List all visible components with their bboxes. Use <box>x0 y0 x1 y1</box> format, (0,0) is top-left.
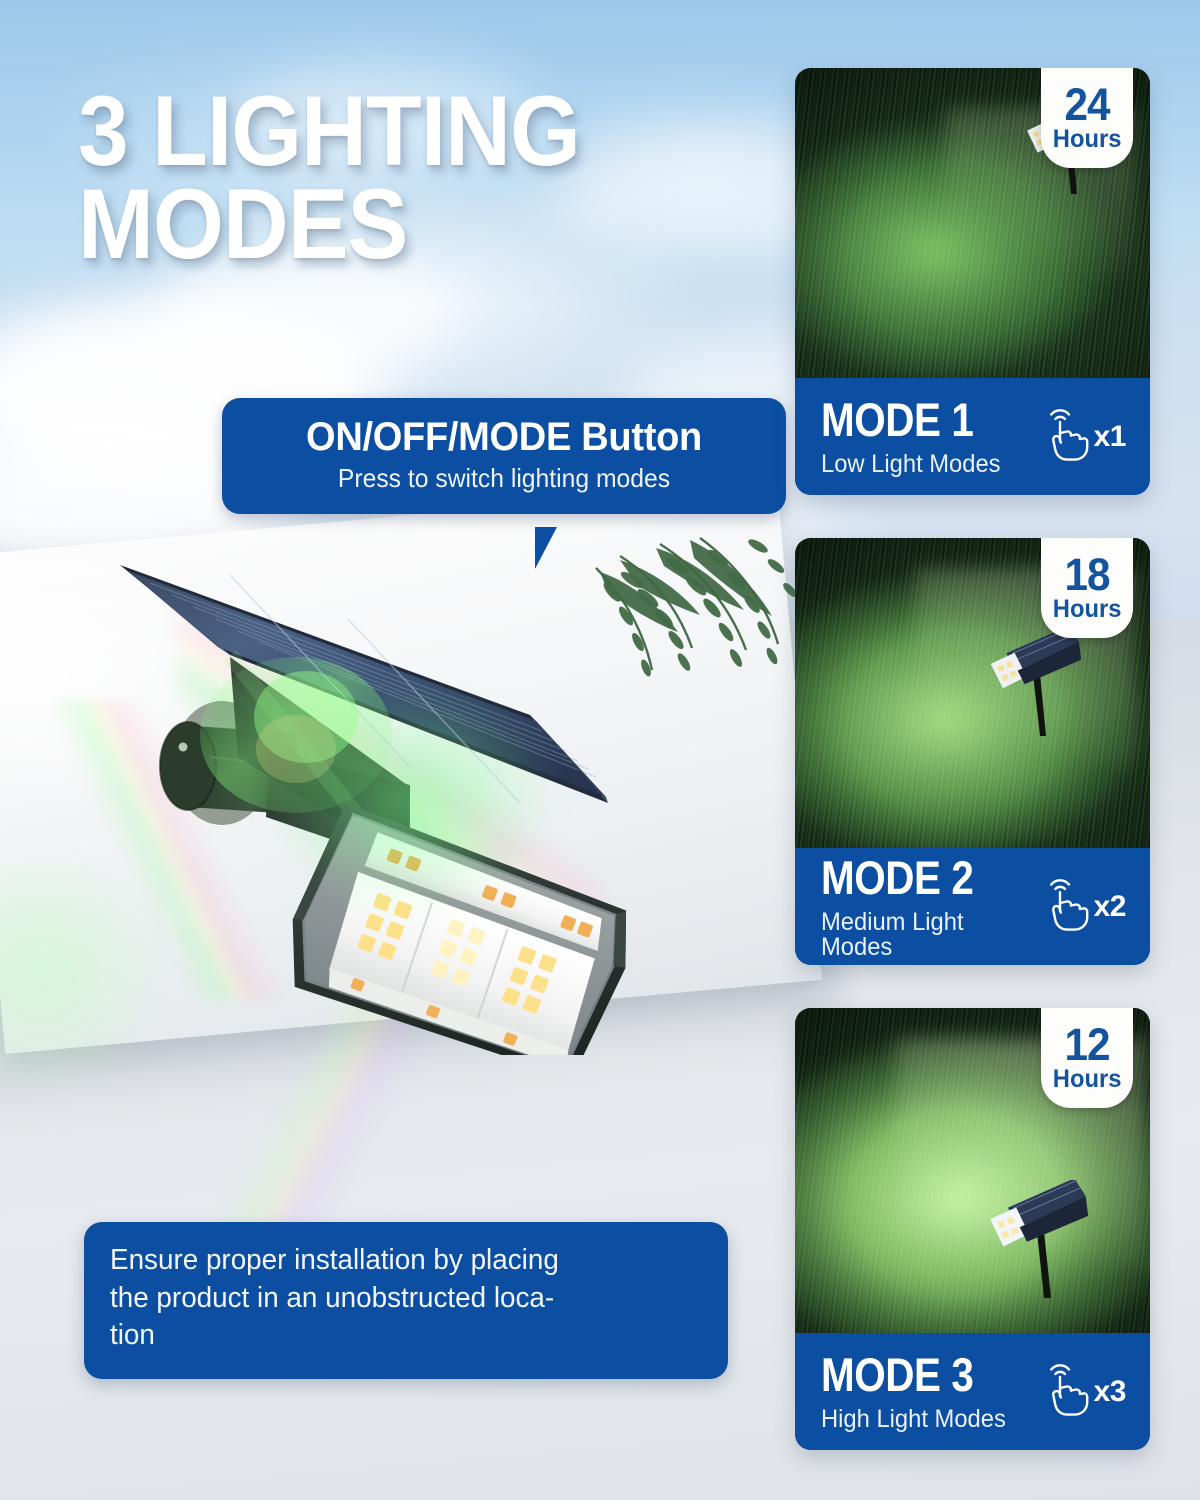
tap-hand-icon <box>1038 1361 1090 1422</box>
product-solar-wall-light <box>110 535 690 1055</box>
mode-2-subtitle: Medium Light Modes <box>821 910 1027 960</box>
mode-2-hours-badge: 18 Hours <box>1041 538 1133 638</box>
mini-solar-lamp <box>983 1180 1109 1307</box>
callout-heading: ON/OFF/MODE Button <box>255 416 753 458</box>
mode-1-label-bar: MODE 1 Low Light Modes x1 <box>795 378 1150 495</box>
mode-2-label-bar: MODE 2 Medium Light Modes x2 <box>795 848 1150 965</box>
mode-1-tap-group: x1 <box>1038 406 1126 467</box>
product-green-glow <box>260 685 560 915</box>
tap-hand-icon <box>1038 406 1090 467</box>
installation-note: Ensure proper installation by placing th… <box>84 1222 728 1379</box>
mode-1-photo: 24 Hours <box>795 68 1150 378</box>
mode-2-hours-number: 18 <box>1064 554 1109 595</box>
callout-tail <box>535 527 571 569</box>
page-title-line1: 3 LIGHTING <box>78 84 667 177</box>
mode-3-tap-group: x3 <box>1038 1361 1126 1422</box>
installation-note-line3: tion <box>110 1317 678 1355</box>
page-title: 3 LIGHTING MODES <box>78 84 667 270</box>
installation-note-line1: Ensure proper installation by placing <box>110 1242 678 1280</box>
mode-3-hours-unit: Hours <box>1053 1067 1122 1092</box>
mode-1-subtitle: Low Light Modes <box>821 452 1001 477</box>
mode-3-hours-number: 12 <box>1064 1024 1109 1065</box>
mini-solar-lamp <box>983 626 1101 746</box>
mode-1-hours-badge: 24 Hours <box>1041 68 1133 168</box>
mode-1-text: MODE 1 Low Light Modes <box>821 396 1010 477</box>
mode-3-photo: 12 Hours <box>795 1008 1150 1333</box>
mode-3-hours-badge: 12 Hours <box>1041 1008 1133 1108</box>
mode-2-hours-unit: Hours <box>1053 597 1122 622</box>
mode-1-hours-number: 24 <box>1064 84 1109 125</box>
mode-3-label-bar: MODE 3 High Light Modes x3 <box>795 1333 1150 1450</box>
page-title-line2: MODES <box>78 177 667 270</box>
mode-2-photo: 18 Hours <box>795 538 1150 848</box>
mode-card-1: 24 Hours MODE 1 Low Light Modes <box>795 68 1150 495</box>
mode-1-hours-unit: Hours <box>1053 127 1122 152</box>
mode-1-title: MODE 1 <box>821 396 984 443</box>
mode-2-title: MODE 2 <box>821 854 1007 901</box>
mode-2-tap-group: x2 <box>1038 876 1126 937</box>
mode-card-2: 18 Hours MODE 2 Medium Light Modes <box>795 538 1150 965</box>
mode-2-text: MODE 2 Medium Light Modes <box>821 854 1038 960</box>
callout-subtext: Press to switch lighting modes <box>255 464 753 494</box>
infographic-stage: 3 LIGHTING MODES ON/OFF/MODE Button Pres… <box>0 0 1200 1500</box>
installation-note-line2: the product in an unobstructed loca- <box>110 1280 678 1318</box>
mode-3-tap-count: x3 <box>1094 1375 1126 1409</box>
mode-3-subtitle: High Light Modes <box>821 1407 1006 1432</box>
mode-card-3: 12 Hours MODE 3 High Light Modes <box>795 1008 1150 1450</box>
mode-2-tap-count: x2 <box>1094 890 1126 924</box>
on-off-mode-callout: ON/OFF/MODE Button Press to switch light… <box>222 398 786 514</box>
tap-hand-icon <box>1038 876 1090 937</box>
mode-3-title: MODE 3 <box>821 1351 988 1398</box>
mode-3-text: MODE 3 High Light Modes <box>821 1351 1016 1432</box>
mode-1-tap-count: x1 <box>1094 420 1126 454</box>
